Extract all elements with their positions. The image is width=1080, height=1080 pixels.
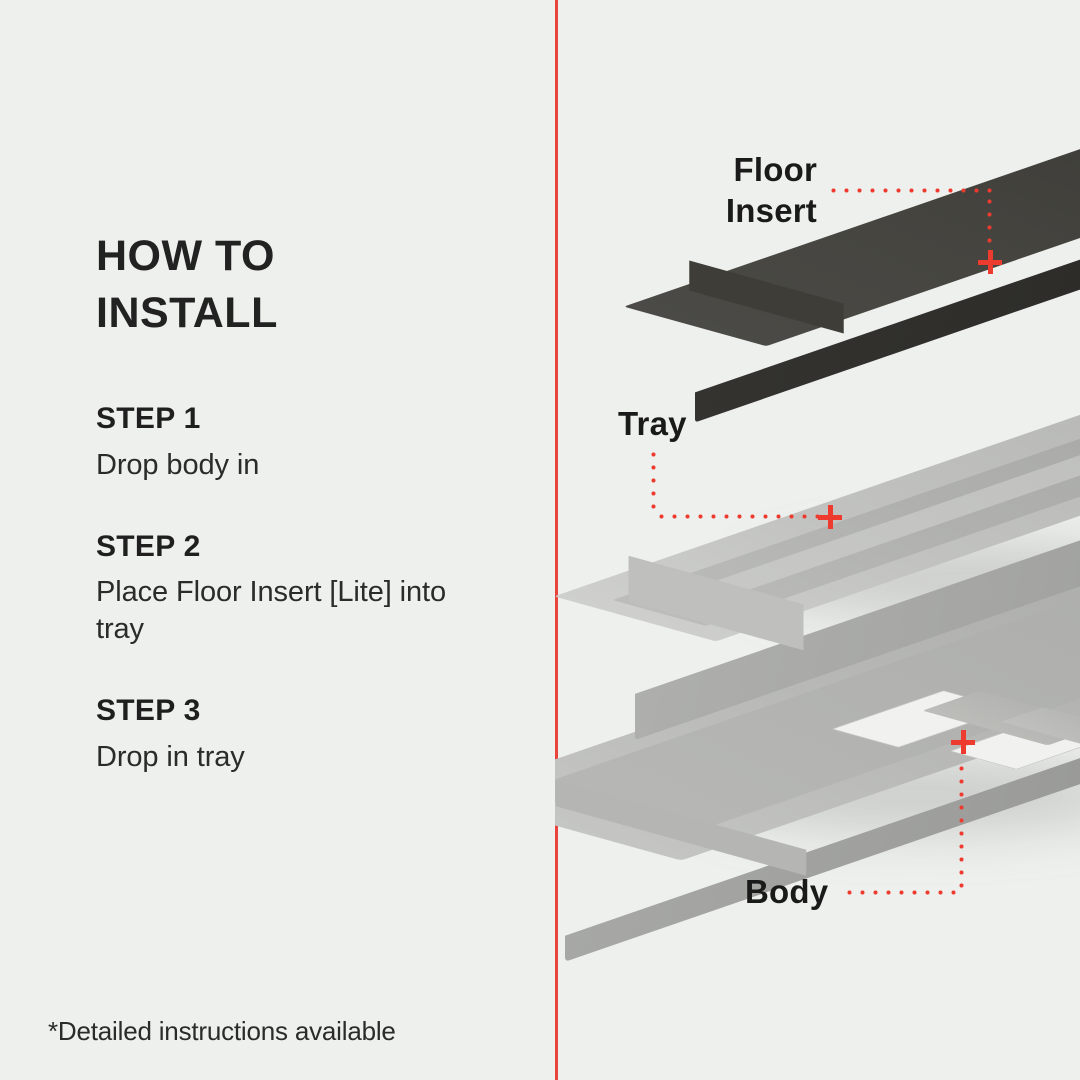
callout-label-tray: Tray (618, 404, 687, 445)
steps-list: STEP 1 Drop body in STEP 2 Place Floor I… (96, 400, 516, 776)
step-1-description: Drop body in (96, 447, 466, 484)
product-diagram-panel: Floor Insert Tray Body (555, 0, 1080, 1080)
leader-line-tray-vertical (651, 448, 656, 510)
plus-crosshair-icon-floor-insert (978, 250, 1002, 274)
install-instruction-card: HOW TO INSTALL STEP 1 Drop body in STEP … (0, 0, 1080, 1080)
step-3-description: Drop in tray (96, 739, 466, 776)
callout-label-floor-insert: Floor Insert (677, 150, 817, 232)
plus-crosshair-icon-tray (818, 505, 842, 529)
leader-line-floor-insert-vertical (987, 195, 992, 253)
step-item-2: STEP 2 Place Floor Insert [Lite] into tr… (96, 528, 516, 649)
footnote-text: *Detailed instructions available (48, 1016, 396, 1047)
plus-crosshair-icon-body (951, 730, 975, 754)
leader-line-floor-insert-horizontal (827, 188, 992, 193)
step-item-1: STEP 1 Drop body in (96, 400, 516, 484)
exploded-view-stage (555, 0, 1080, 1080)
page-title-line-1: HOW TO (96, 228, 476, 285)
callout-label-body: Body (745, 872, 828, 913)
leader-line-body-vertical (959, 762, 964, 892)
leader-line-tray-horizontal (655, 514, 825, 519)
page-title: HOW TO INSTALL (96, 228, 476, 342)
page-title-line-2: INSTALL (96, 285, 476, 342)
leader-line-body-horizontal (843, 890, 963, 895)
step-3-label: STEP 3 (96, 692, 516, 730)
instructions-panel: HOW TO INSTALL STEP 1 Drop body in STEP … (0, 0, 555, 1080)
step-2-label: STEP 2 (96, 528, 516, 566)
step-item-3: STEP 3 Drop in tray (96, 692, 516, 776)
step-1-label: STEP 1 (96, 400, 516, 438)
step-2-description: Place Floor Insert [Lite] into tray (96, 574, 466, 648)
